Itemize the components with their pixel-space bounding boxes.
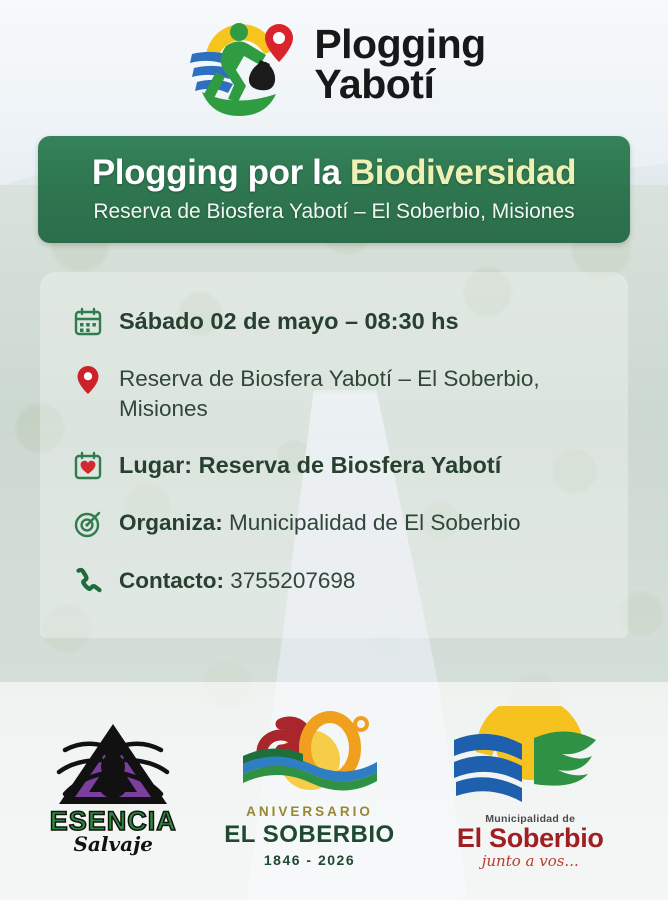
- detail-label-contact: Contacto:: [119, 568, 224, 593]
- detail-row-place: Lugar: Reserva de Biosfera Yabotí: [74, 450, 598, 481]
- title-banner: Plogging por la Biodiversidad Reserva de…: [38, 136, 630, 243]
- plogging-runner-logo: [182, 10, 300, 118]
- target-icon: [74, 509, 102, 539]
- calendar-heart-icon: [74, 451, 102, 481]
- municipal-flag-icon: [442, 706, 618, 810]
- footer-logos: ESENCIA Salvaje ANIVERSARIO EL SOBERBIO …: [0, 682, 668, 900]
- detail-text-contact: 3755207698: [224, 568, 355, 593]
- aniversario-el-soberbio-logo: ANIVERSARIO EL SOBERBIO 1846 - 2026: [224, 708, 394, 868]
- municipalidad-name: El Soberbio: [457, 823, 604, 854]
- detail-value-date: Sábado 02 de mayo – 08:30 hs: [119, 306, 459, 337]
- banner-subtitle: Reserva de Biosfera Yabotí – El Soberbio…: [58, 200, 610, 224]
- banner-title-highlight: Biodiversidad: [350, 153, 576, 192]
- aniversario-place: EL SOBERBIO: [224, 821, 394, 849]
- brand-line-2: Yabotí: [314, 64, 485, 104]
- detail-value-place: Lugar: Reserva de Biosfera Yabotí: [119, 450, 501, 481]
- phone-icon: [74, 567, 102, 597]
- brand-wordmark: Plogging Yabotí: [314, 24, 485, 104]
- banner-title-prefix: Plogging por la: [92, 153, 350, 192]
- detail-label-organizer: Organiza:: [119, 510, 223, 535]
- banner-title: Plogging por la Biodiversidad: [58, 153, 610, 193]
- esencia-salvaje-logo: ESENCIA Salvaje: [50, 720, 177, 856]
- map-pin-icon: [74, 365, 102, 395]
- municipalidad-el-soberbio-logo: Municipalidad de El Soberbio junto a vos…: [442, 706, 618, 870]
- detail-row-date: Sábado 02 de mayo – 08:30 hs: [74, 306, 598, 337]
- detail-text-place: Reserva de Biosfera Yabotí: [192, 452, 501, 478]
- detail-row-contact: Contacto: 3755207698: [74, 566, 598, 597]
- detail-value-contact: Contacto: 3755207698: [119, 566, 355, 596]
- detail-label-place: Lugar:: [119, 452, 192, 478]
- calendar-icon: [74, 307, 102, 337]
- detail-value-location: Reserva de Biosfera Yabotí – El Soberbio…: [119, 364, 598, 423]
- salvaje-word: Salvaje: [73, 832, 153, 856]
- detail-value-organizer: Organiza: Municipalidad de El Soberbio: [119, 508, 520, 538]
- detail-row-organizer: Organiza: Municipalidad de El Soberbio: [74, 508, 598, 539]
- brand-header: Plogging Yabotí: [0, 0, 668, 128]
- detail-text-organizer: Municipalidad de El Soberbio: [223, 510, 521, 535]
- detail-row-location: Reserva de Biosfera Yabotí – El Soberbio…: [74, 364, 598, 423]
- anniversary-80-icon: [235, 708, 385, 800]
- municipalidad-tagline: junto a vos...: [482, 852, 579, 870]
- aniversario-label: ANIVERSARIO: [246, 804, 373, 819]
- brand-line-1: Plogging: [314, 24, 485, 64]
- aniversario-years: 1846 - 2026: [264, 852, 355, 868]
- spider-triangle-icon: [51, 720, 175, 810]
- event-details-card: Sábado 02 de mayo – 08:30 hs Reserva de …: [40, 272, 628, 638]
